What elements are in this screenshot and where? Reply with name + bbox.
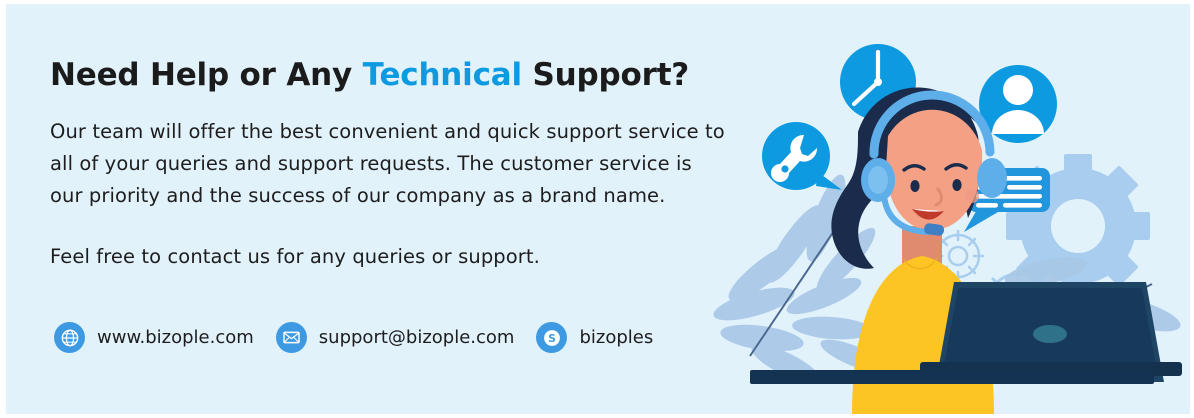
support-banner: Need Help or Any Technical Support? Our … bbox=[0, 0, 1194, 418]
contact-row: www.bizople.com support@bizople.com S bi… bbox=[54, 322, 653, 353]
skype-icon: S bbox=[536, 322, 567, 353]
body-paragraph: Our team will offer the best convenient … bbox=[50, 116, 730, 212]
svg-text:S: S bbox=[548, 333, 556, 345]
contact-item-email[interactable]: support@bizople.com bbox=[276, 322, 515, 353]
headline-accent-word: Technical bbox=[363, 57, 522, 93]
copy-block: Need Help or Any Technical Support? Our … bbox=[50, 58, 740, 273]
contact-label-website: www.bizople.com bbox=[97, 327, 254, 348]
envelope-icon bbox=[276, 322, 307, 353]
laptop bbox=[920, 282, 1182, 382]
headline-text-before: Need Help or Any bbox=[50, 57, 363, 93]
page-title: Need Help or Any Technical Support? bbox=[50, 58, 740, 92]
contact-label-skype: bizoples bbox=[579, 327, 653, 348]
wrench-speech-bubble-icon bbox=[762, 122, 842, 190]
desk bbox=[750, 370, 1154, 384]
customer-support-agent-illustration bbox=[706, 4, 1194, 414]
cta-paragraph: Feel free to contact us for any queries … bbox=[50, 241, 740, 273]
contact-item-website[interactable]: www.bizople.com bbox=[54, 322, 254, 353]
headline-text-after: Support? bbox=[522, 57, 689, 93]
contact-item-skype[interactable]: S bizoples bbox=[536, 322, 653, 353]
contact-label-email: support@bizople.com bbox=[319, 327, 515, 348]
globe-icon bbox=[54, 322, 85, 353]
